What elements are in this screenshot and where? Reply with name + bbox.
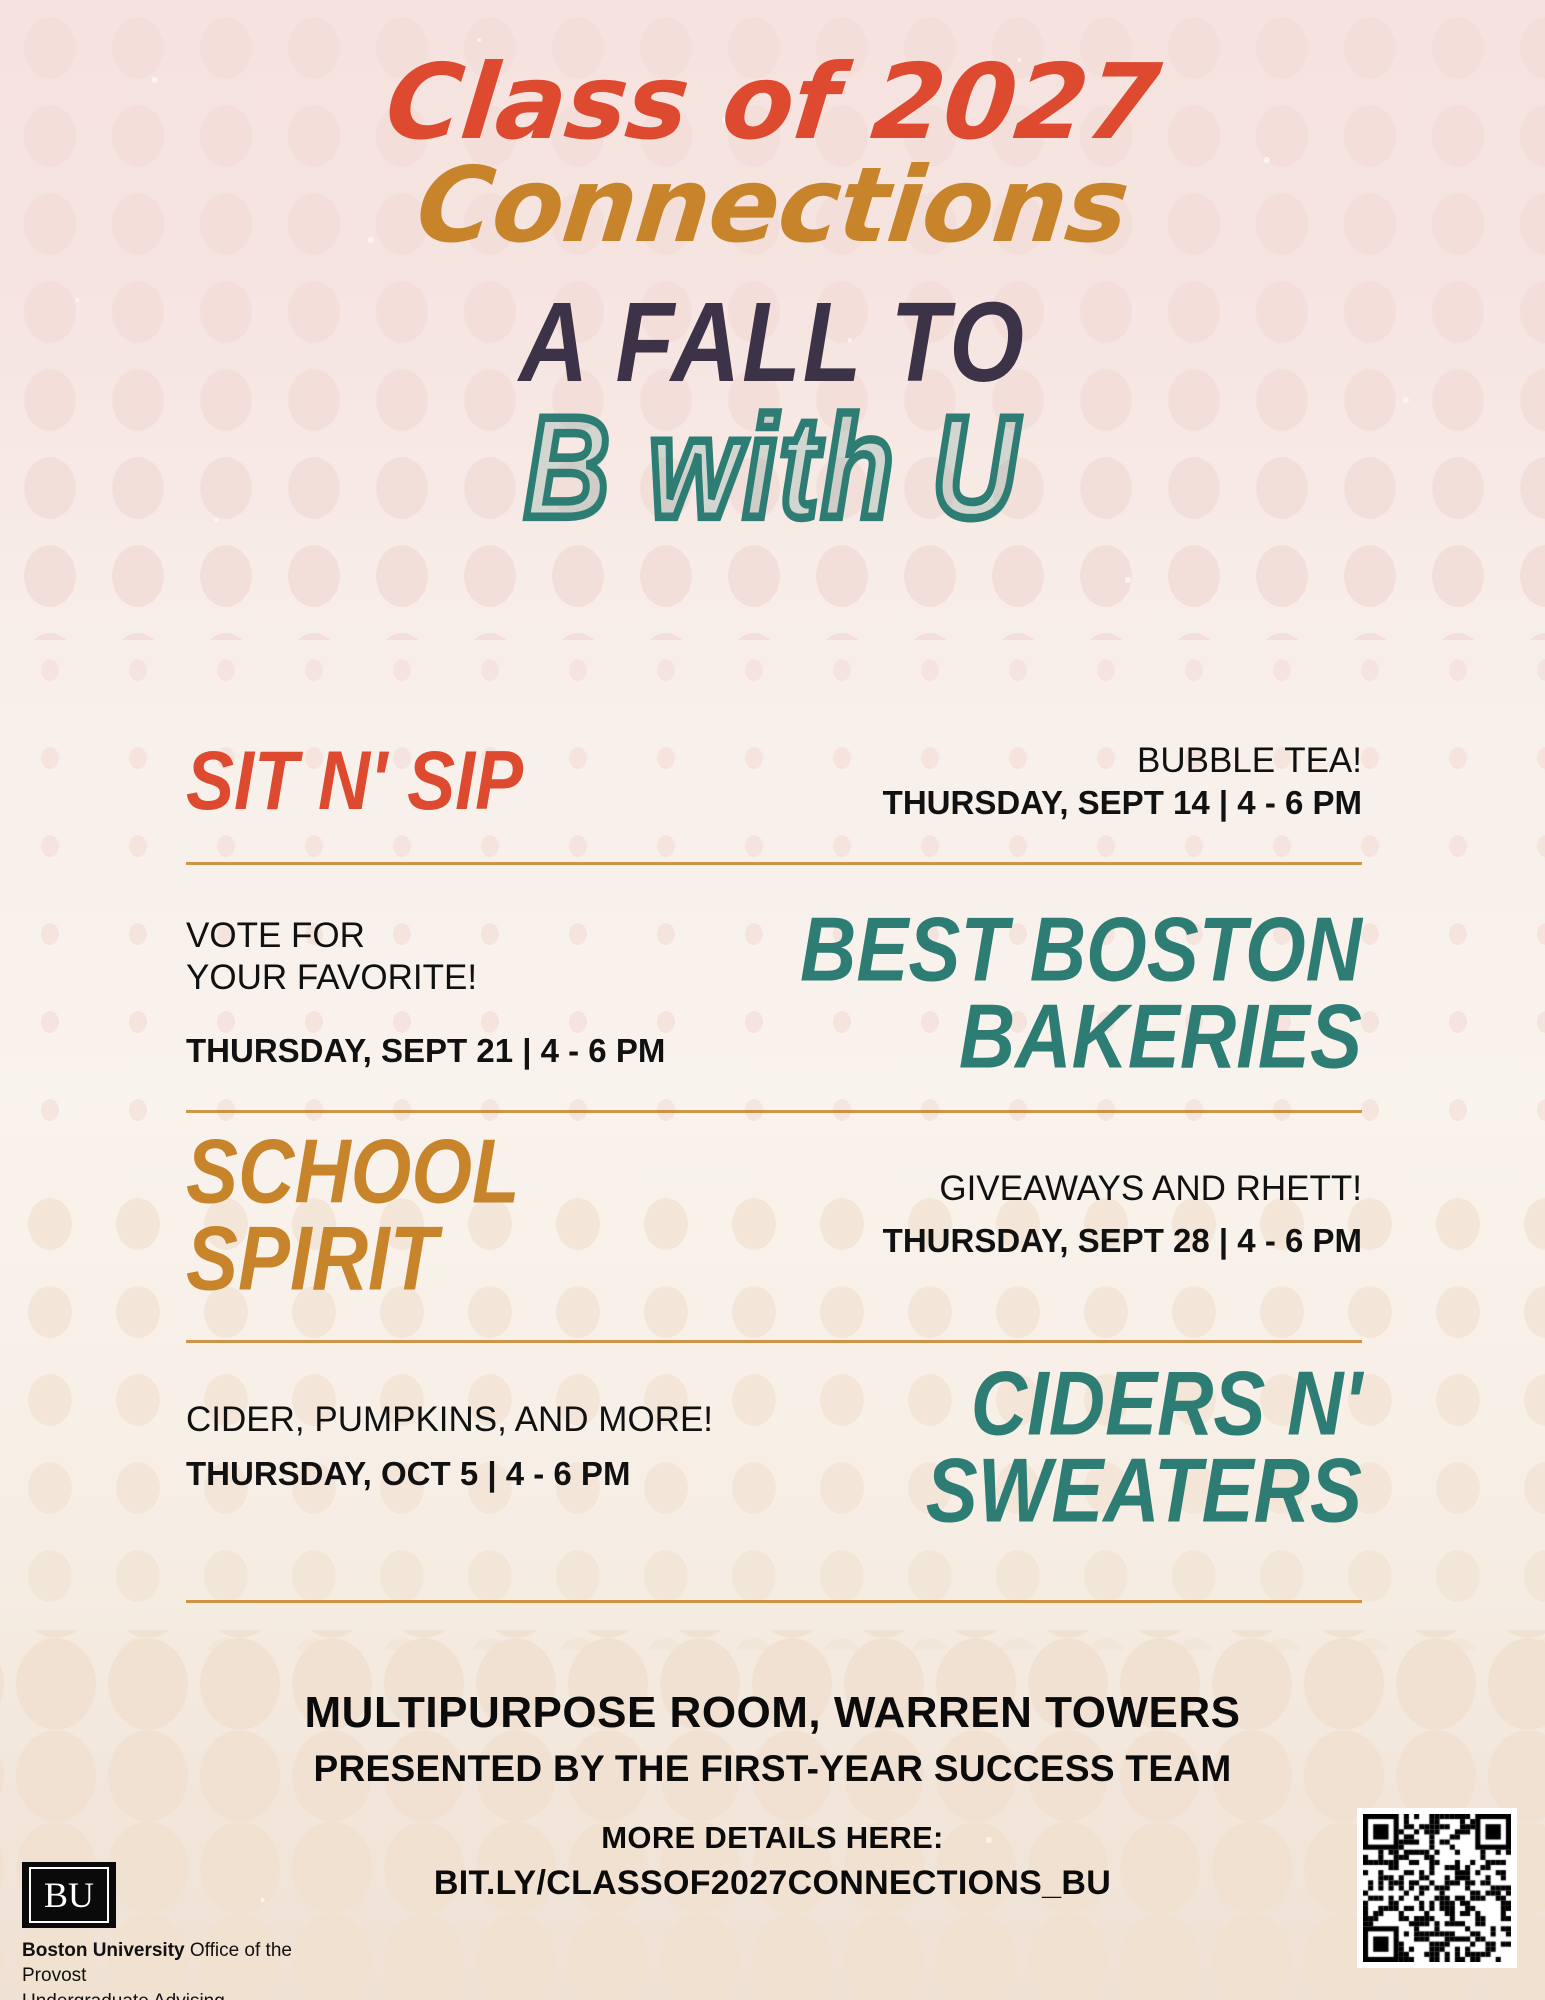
divider-2	[186, 1110, 1362, 1113]
bu-org-line-2: Undergraduate Advising	[22, 1989, 352, 2000]
event-1-description: BUBBLE TEA!	[883, 740, 1362, 783]
event-2-description: VOTE FOR YOUR FAVORITE!	[186, 915, 665, 1000]
event-1-date: THURSDAY, SEPT 14 | 4 - 6 PM	[883, 783, 1362, 823]
footer-more-details-label: MORE DETAILS HERE:	[0, 1820, 1545, 1856]
event-row-3: SCHOOL SPIRIT GIVEAWAYS AND RHETT! THURS…	[186, 1140, 1362, 1290]
title-connections: Connections	[0, 158, 1545, 254]
footer-venue: MULTIPURPOSE ROOM, WARREN TOWERS	[0, 1688, 1545, 1738]
event-4-name: CIDERS N' SWEATERS	[926, 1360, 1362, 1534]
event-1-name: SIT N' SIP	[186, 741, 523, 821]
bu-logo-block: BU Boston University Office of the Provo…	[22, 1862, 352, 2000]
footer-presented-by: PRESENTED BY THE FIRST-YEAR SUCCESS TEAM	[0, 1748, 1545, 1790]
event-row-4: CIDER, PUMPKINS, AND MORE! THURSDAY, OCT…	[186, 1372, 1362, 1522]
divider-4	[186, 1600, 1362, 1603]
event-3-description: GIVEAWAYS AND RHETT!	[883, 1168, 1362, 1211]
divider-1	[186, 862, 1362, 865]
event-4-date: THURSDAY, OCT 5 | 4 - 6 PM	[186, 1454, 713, 1494]
bu-org-text: Boston University Office of the Provost …	[22, 1938, 352, 2000]
bu-org-name: Boston University	[22, 1940, 185, 1961]
divider-3	[186, 1340, 1362, 1343]
event-2-date: THURSDAY, SEPT 21 | 4 - 6 PM	[186, 1031, 665, 1071]
event-3-name: SCHOOL SPIRIT	[186, 1128, 520, 1302]
poster-canvas: Class of 2027 Connections A FALL TO B wi…	[0, 0, 1545, 2000]
bu-wordmark-letters: BU	[29, 1867, 109, 1923]
event-row-2: VOTE FOR YOUR FAVORITE! THURSDAY, SEPT 2…	[186, 895, 1362, 1091]
event-row-1: SIT N' SIP BUBBLE TEA! THURSDAY, SEPT 14…	[186, 740, 1362, 823]
event-3-date: THURSDAY, SEPT 28 | 4 - 6 PM	[883, 1221, 1362, 1261]
title-class-of-2027: Class of 2027	[0, 55, 1545, 151]
qr-code[interactable]	[1357, 1808, 1517, 1968]
qr-code-image	[1363, 1814, 1511, 1962]
bu-wordmark-box: BU	[22, 1862, 116, 1928]
event-4-description: CIDER, PUMPKINS, AND MORE!	[186, 1399, 713, 1442]
subtitle-b-with-u: B with U	[0, 385, 1545, 551]
event-2-name: BEST BOSTON BAKERIES	[800, 906, 1362, 1080]
bu-org-line-1: Boston University Office of the Provost	[22, 1938, 352, 1989]
